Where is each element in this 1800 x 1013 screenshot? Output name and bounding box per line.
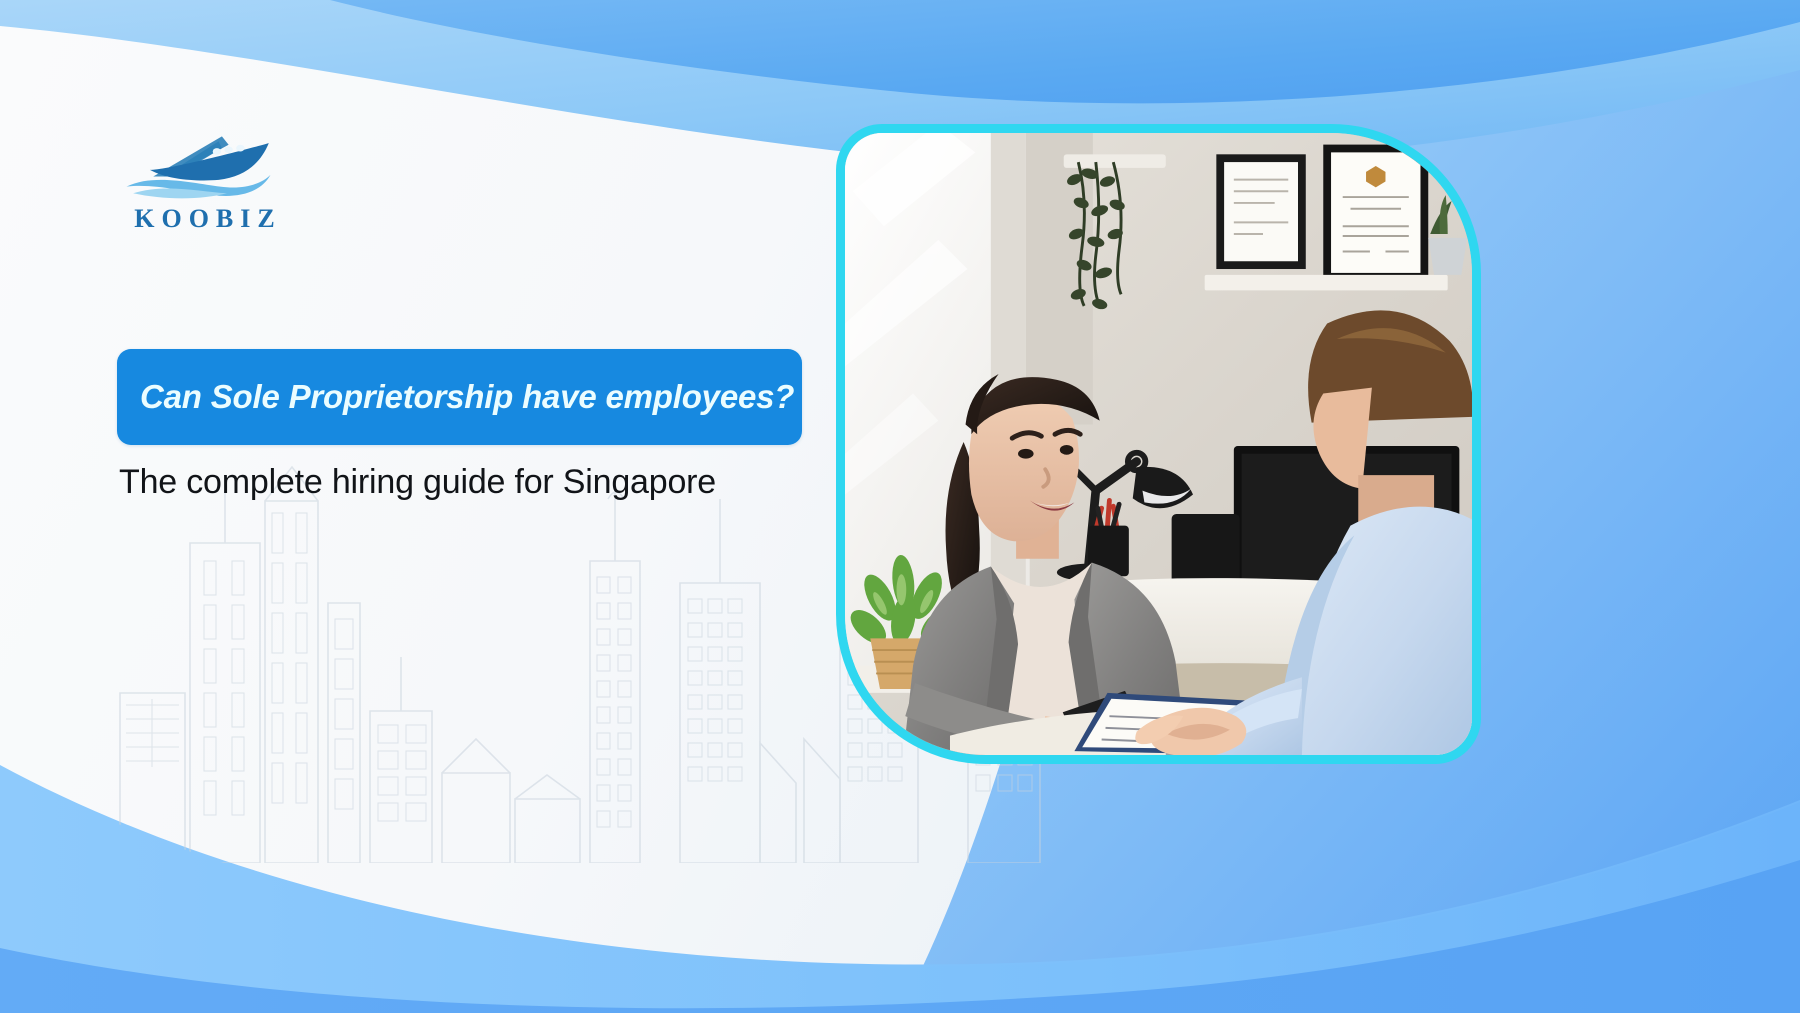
- promo-banner: KOOBIZ Can Sole Proprietorship have empl…: [0, 0, 1800, 1013]
- interview-photo: [845, 133, 1472, 755]
- interview-photo-card: [836, 124, 1481, 764]
- wave-front-dark: [0, 860, 1800, 1013]
- wave-top-dark: [330, 0, 1800, 103]
- framed-certificates-icon: [1205, 145, 1467, 291]
- headline-text: Can Sole Proprietorship have employees?: [117, 378, 794, 416]
- brand-logo[interactable]: KOOBIZ: [110, 128, 300, 240]
- interview-photo-illustration: [845, 133, 1472, 755]
- subtitle-text: The complete hiring guide for Singapore: [119, 463, 716, 502]
- brand-wordmark: KOOBIZ: [110, 204, 300, 234]
- headline-pill: Can Sole Proprietorship have employees?: [117, 349, 802, 445]
- speedboat-icon: [116, 128, 291, 200]
- wave-bottom-dark: [0, 858, 1800, 1013]
